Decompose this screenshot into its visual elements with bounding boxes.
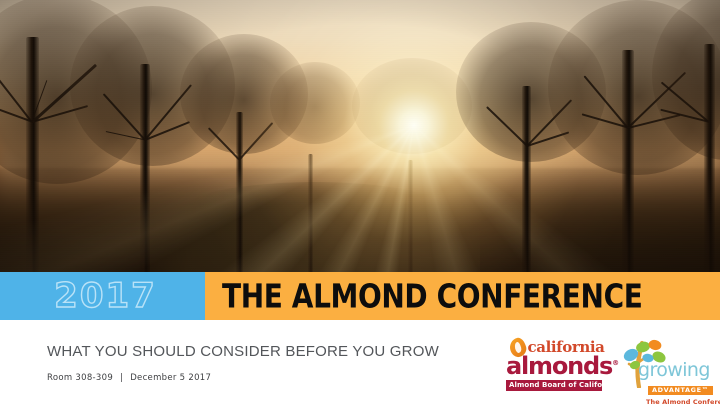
- tree-trunk: [704, 44, 715, 272]
- session-meta: Room 308-309|December 5 2017: [47, 373, 211, 383]
- date-label: December 5 2017: [130, 373, 211, 383]
- conference-title: THE ALMOND CONFERENCE: [205, 277, 642, 316]
- growing-wordmark: growing ADVANTAGE™ The Almond Conference: [620, 339, 712, 405]
- growing-tagline: The Almond Conference: [646, 399, 712, 406]
- tree-branches: [709, 121, 710, 122]
- almond-board-tagline: Almond Board of California: [506, 380, 602, 391]
- presentation-slide: 2017 THE ALMOND CONFERENCE WHAT YOU SHOU…: [0, 0, 720, 406]
- advantage-badge: ADVANTAGE™: [648, 386, 713, 395]
- growing-word: growing: [638, 361, 712, 380]
- advantage-trademark: ™: [702, 386, 709, 394]
- tree-trunk: [522, 86, 531, 272]
- sponsor-logos: california almonds® Almond Board of Cali…: [506, 338, 712, 405]
- almonds-word-text: almonds: [506, 352, 612, 380]
- growing-advantage-logo: growing ADVANTAGE™ The Almond Conference: [620, 338, 712, 405]
- california-almonds-logo: california almonds® Almond Board of Cali…: [506, 338, 602, 391]
- meta-separator: |: [113, 373, 130, 383]
- tree-branches: [628, 127, 629, 128]
- year-band: 2017: [0, 272, 205, 320]
- year-label: 2017: [48, 279, 157, 313]
- tree-branches: [527, 145, 528, 146]
- almonds-word: almonds®: [506, 354, 602, 378]
- room-label: Room 308-309: [47, 373, 113, 383]
- title-banner: 2017 THE ALMOND CONFERENCE: [0, 272, 720, 320]
- hero-photo-almond-orchard: [0, 0, 720, 272]
- advantage-text: ADVANTAGE: [652, 386, 702, 394]
- slide-footer: WHAT YOU SHOULD CONSIDER BEFORE YOU GROW…: [0, 320, 720, 406]
- title-band: THE ALMOND CONFERENCE: [205, 272, 720, 320]
- almonds-trademark: ®: [612, 359, 619, 367]
- session-subtitle: WHAT YOU SHOULD CONSIDER BEFORE YOU GROW: [47, 343, 439, 360]
- tree-right-3: [668, 0, 720, 272]
- tree-trunk: [622, 50, 634, 272]
